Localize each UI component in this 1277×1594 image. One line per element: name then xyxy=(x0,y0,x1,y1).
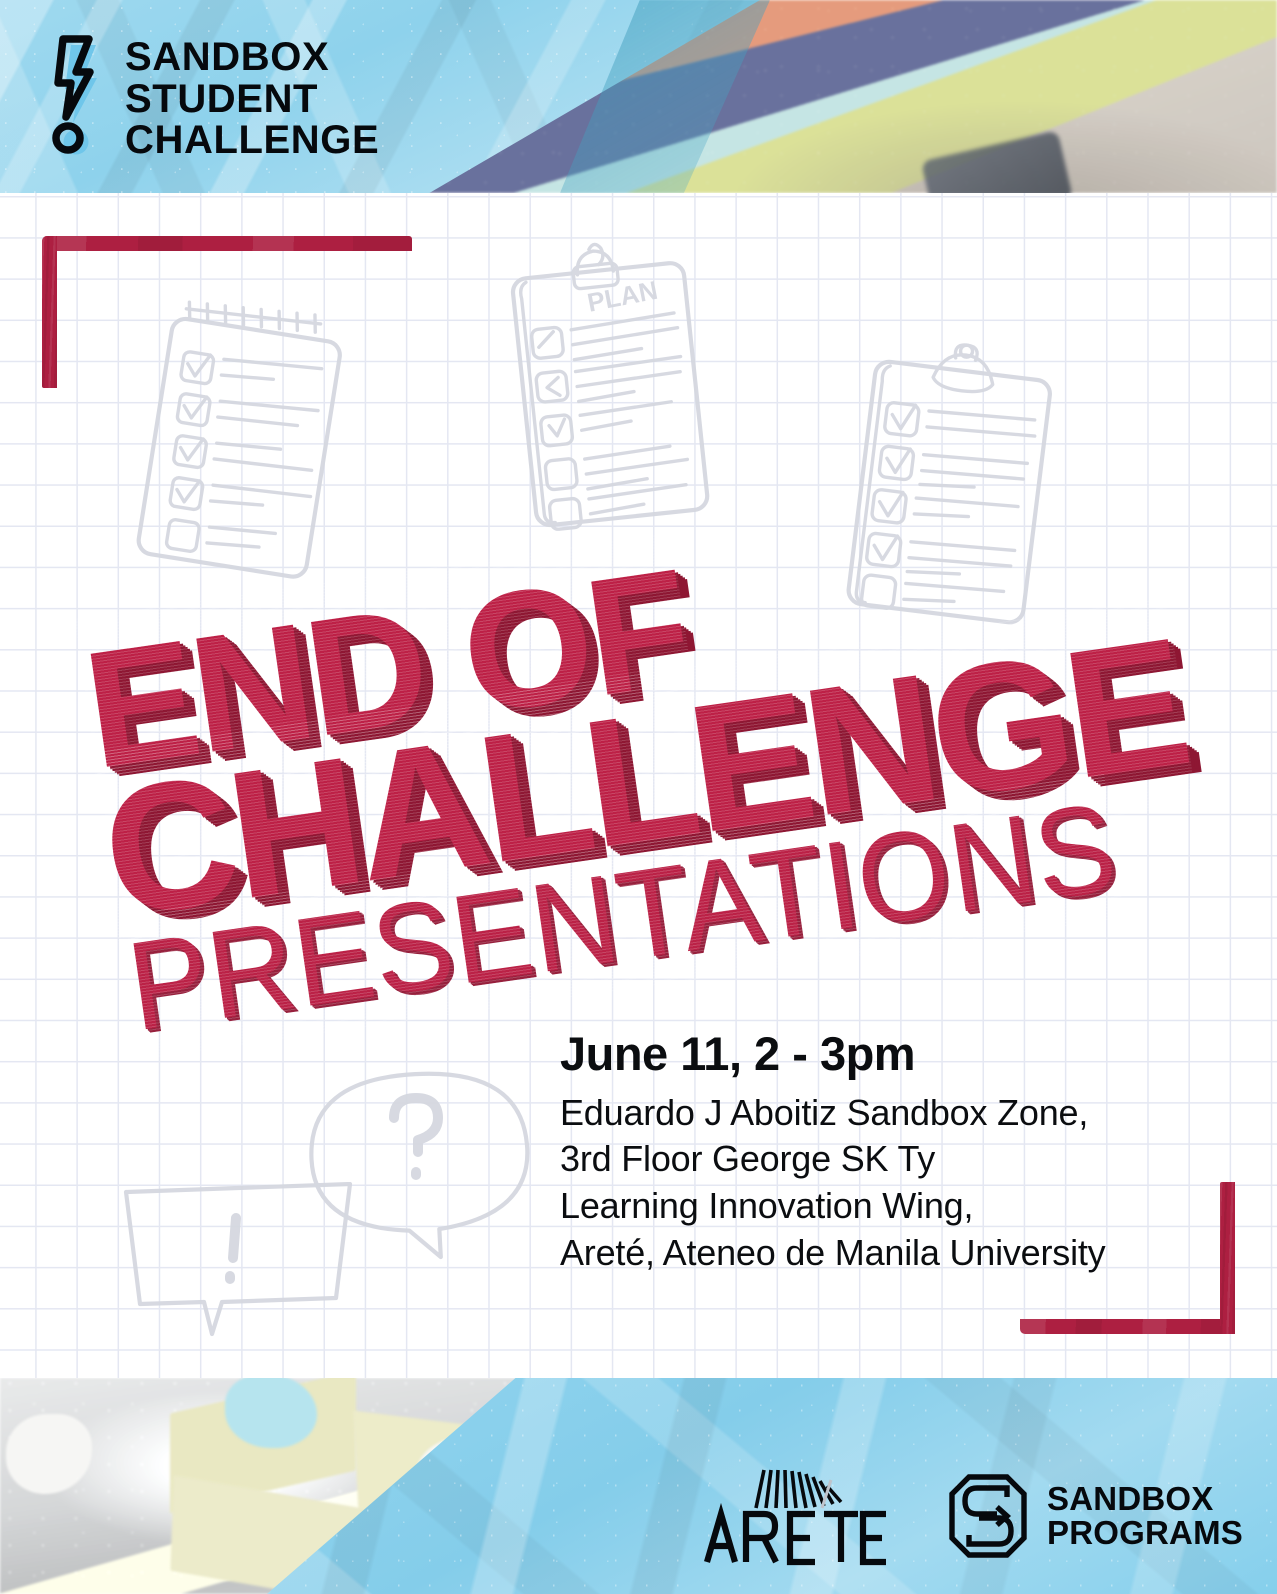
lightning-bolt-exclamation-icon xyxy=(47,31,109,159)
footer-band: SANDBOX PROGRAMS xyxy=(0,1378,1277,1594)
event-details: June 11, 2 - 3pm Eduardo J Aboitiz Sandb… xyxy=(560,1028,1220,1277)
event-venue: Eduardo J Aboitiz Sandbox Zone, 3rd Floo… xyxy=(560,1090,1220,1277)
bracket-horizontal-bar xyxy=(42,236,412,251)
sandbox-hexagon-s-icon xyxy=(949,1474,1027,1558)
bracket-vertical-bar xyxy=(42,236,57,388)
arete-logo xyxy=(702,1466,887,1566)
sandbox-student-challenge-logo: SANDBOX STUDENT CHALLENGE xyxy=(47,31,379,162)
venue-line-1: Eduardo J Aboitiz Sandbox Zone, xyxy=(560,1090,1220,1137)
venue-line-2: 3rd Floor George SK Ty xyxy=(560,1136,1220,1183)
event-datetime: June 11, 2 - 3pm xyxy=(560,1028,1220,1081)
spiral-notepad-checklist-doodle xyxy=(122,300,372,600)
sandbox-programs-wordmark: SANDBOX PROGRAMS xyxy=(1047,1482,1243,1551)
header-band: SANDBOX STUDENT CHALLENGE xyxy=(0,0,1277,193)
partner-logos: SANDBOX PROGRAMS xyxy=(702,1466,1243,1566)
svg-text:PLAN: PLAN xyxy=(585,275,660,318)
poster-title: END OF CHALLENGE PRESENTATIONS xyxy=(0,560,1277,1060)
crumpled-teal-paper xyxy=(225,1378,317,1448)
venue-line-3: Learning Innovation Wing, xyxy=(560,1183,1220,1230)
logo-wordmark: SANDBOX STUDENT CHALLENGE xyxy=(125,31,379,162)
sandbox-programs-logo: SANDBOX PROGRAMS xyxy=(949,1474,1243,1558)
event-poster: SANDBOX STUDENT CHALLENGE xyxy=(0,0,1277,1594)
venue-line-4: Areté, Ateneo de Manila University xyxy=(560,1230,1220,1277)
bracket-vertical-bar xyxy=(1220,1182,1235,1334)
clipboard-plan-doodle: PLAN xyxy=(486,238,736,548)
bracket-horizontal-bar xyxy=(1020,1319,1235,1334)
exclamation-speech-bubble-doodle xyxy=(118,1182,368,1352)
